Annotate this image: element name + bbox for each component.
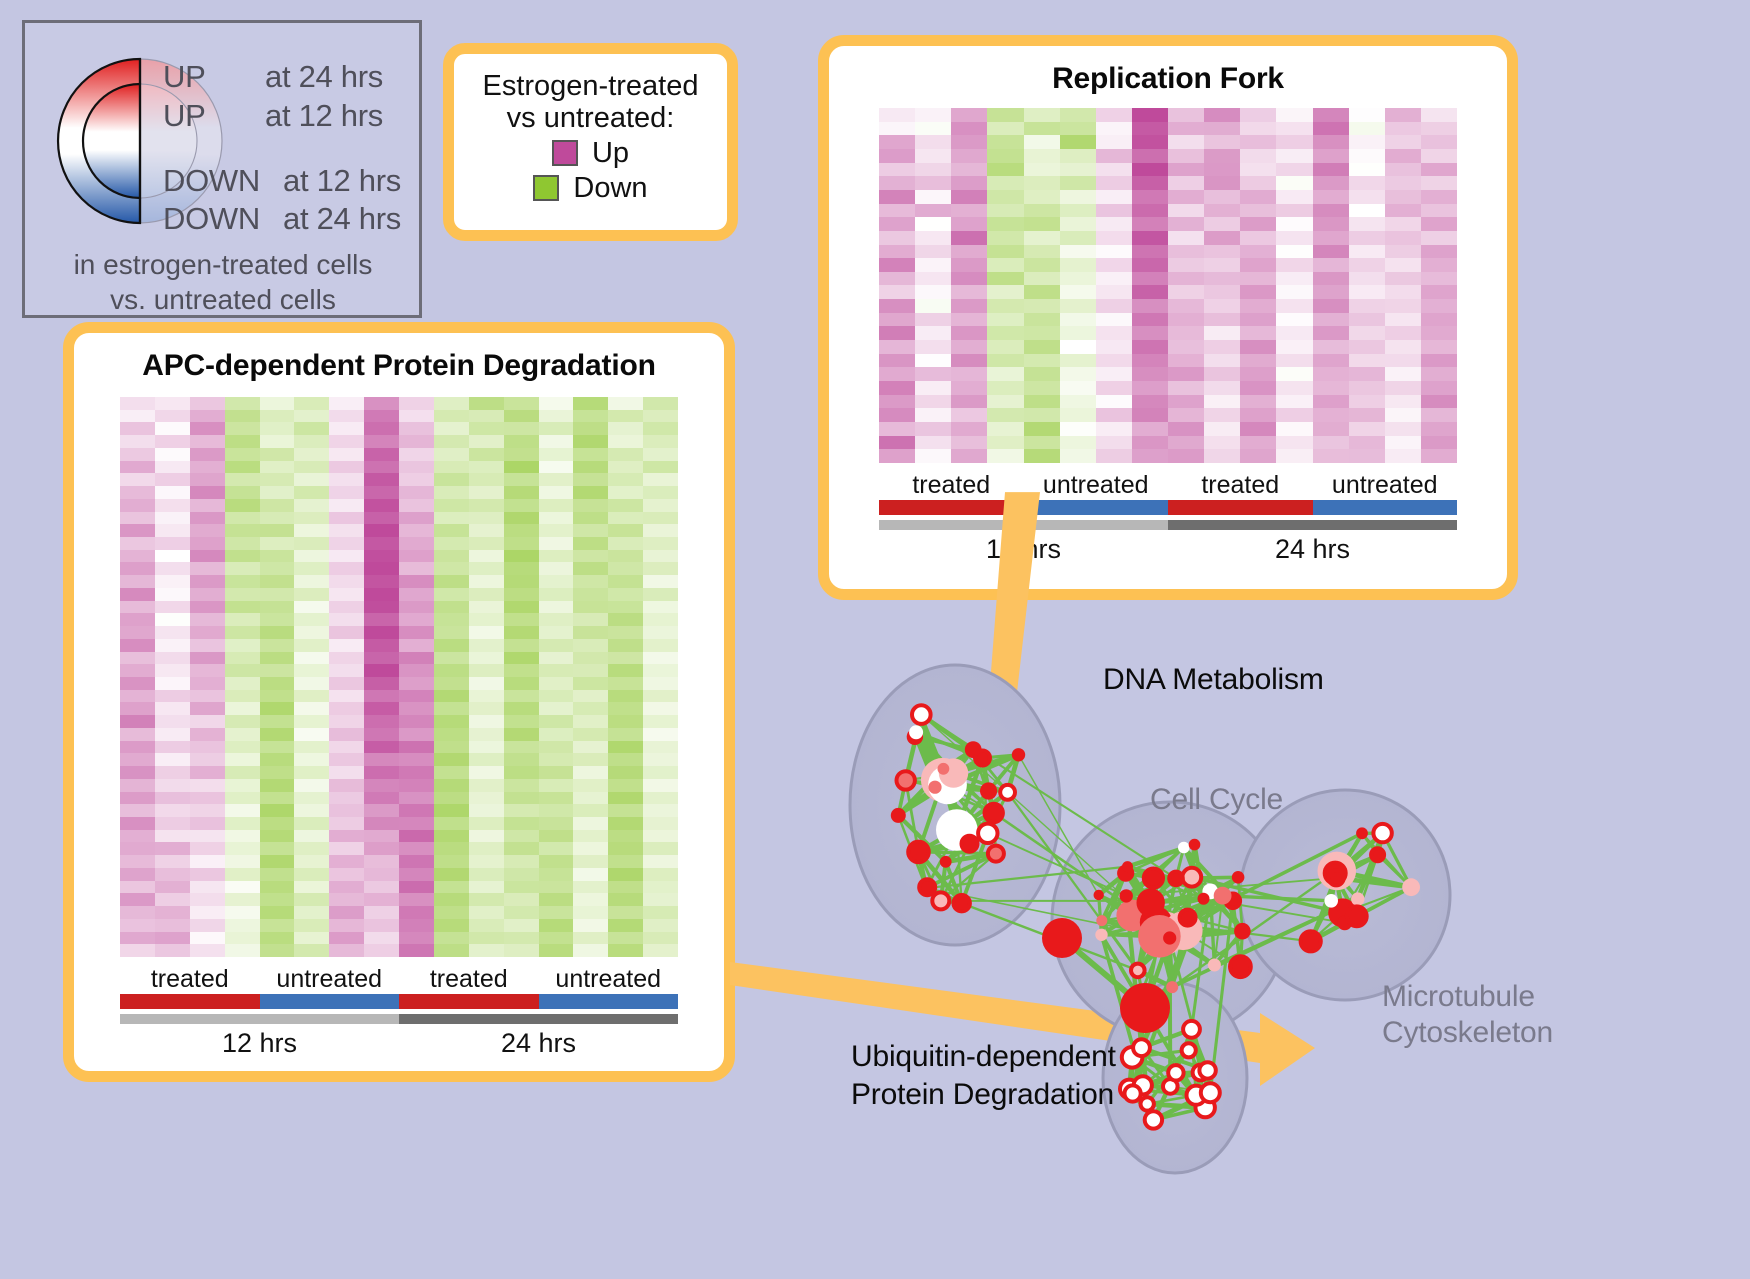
- heatmap-cell: [504, 817, 539, 830]
- heatmap-cell: [1421, 326, 1457, 340]
- legend-label-up: Up: [592, 137, 629, 170]
- heatmap-cell: [329, 753, 364, 766]
- heatmap-cell: [364, 881, 399, 894]
- heatmap-cell: [294, 702, 329, 715]
- heatmap-cell: [1132, 367, 1168, 381]
- heatmap-cell: [434, 410, 469, 423]
- heatmap-cell: [1096, 395, 1132, 409]
- heatmap-cell: [434, 473, 469, 486]
- heatmap-cell: [294, 550, 329, 563]
- heatmap-cell: [190, 868, 225, 881]
- heatmap-cell: [155, 855, 190, 868]
- heatmap-cell: [1349, 122, 1385, 136]
- heatmap-cell: [987, 149, 1023, 163]
- heatmap-cell: [573, 397, 608, 410]
- heatmap-cell: [608, 652, 643, 665]
- heatmap-cell: [879, 135, 915, 149]
- network-node: [1232, 871, 1245, 884]
- heatmap-cell: [399, 779, 434, 792]
- heatmap-cell: [469, 562, 504, 575]
- heatmap-cell: [1168, 285, 1204, 299]
- heatmap-cell: [190, 702, 225, 715]
- network-node: [1329, 870, 1344, 885]
- heatmap-cell: [469, 422, 504, 435]
- heatmap-cell: [225, 448, 260, 461]
- heatmap-cell: [364, 792, 399, 805]
- heatmap-cell: [573, 613, 608, 626]
- heatmap-cell: [260, 588, 295, 601]
- network-node: [1120, 889, 1133, 902]
- heatmap-cell: [225, 728, 260, 741]
- heatmap-cell: [399, 512, 434, 525]
- heatmap-cell: [1240, 408, 1276, 422]
- heatmap-cell: [1060, 135, 1096, 149]
- heatmap-cell: [364, 486, 399, 499]
- heatmap-cell: [469, 881, 504, 894]
- heatmap-cell: [120, 473, 155, 486]
- heatmap-cell: [539, 855, 574, 868]
- heatmap-cell: [399, 550, 434, 563]
- network-node: [1144, 869, 1163, 888]
- heatmap-cell: [225, 944, 260, 957]
- heatmap-cell: [294, 881, 329, 894]
- network-node: [1122, 861, 1133, 872]
- heatmap-cell: [469, 601, 504, 614]
- heatmap-cell: [504, 881, 539, 894]
- network-node: [919, 879, 935, 895]
- heatmap-cell: [879, 122, 915, 136]
- heatmap-cell: [364, 473, 399, 486]
- heatmap-cell: [1024, 122, 1060, 136]
- apc-degradation-panel: APC-dependent Protein Degradation treate…: [63, 322, 735, 1082]
- heatmap-cell: [608, 613, 643, 626]
- heatmap-cell: [399, 562, 434, 575]
- heatmap-cell: [915, 190, 951, 204]
- heatmap-cell: [608, 741, 643, 754]
- network-node: [1012, 748, 1025, 761]
- heatmap-cell: [1421, 436, 1457, 450]
- heatmap-cell: [225, 932, 260, 945]
- heatmap-cell: [1060, 231, 1096, 245]
- heatmap-cell: [504, 741, 539, 754]
- heatmap-cell: [1096, 135, 1132, 149]
- heatmap-cell: [1313, 367, 1349, 381]
- heatmap-cell: [434, 613, 469, 626]
- heatmap-cell: [329, 639, 364, 652]
- heatmap-cell: [1204, 245, 1240, 259]
- heatmap-cell: [1240, 285, 1276, 299]
- heatmap-cell: [260, 537, 295, 550]
- heatmap-cell: [1024, 449, 1060, 463]
- heatmap-cell: [434, 562, 469, 575]
- heatmap-cell: [1385, 422, 1421, 436]
- heatmap-cell: [225, 410, 260, 423]
- heatmap-cell: [504, 499, 539, 512]
- heatmap-cell: [1060, 367, 1096, 381]
- heatmap-cell: [504, 588, 539, 601]
- color-key-time-down-12: at 12 hrs: [283, 163, 401, 199]
- heatmap-cell: [294, 779, 329, 792]
- heatmap-cell: [1096, 285, 1132, 299]
- heatmap-cell: [190, 524, 225, 537]
- heatmap-cell: [1385, 217, 1421, 231]
- heatmap-cell: [504, 461, 539, 474]
- heatmap-cell: [1132, 326, 1168, 340]
- heatmap-cell: [120, 639, 155, 652]
- heatmap-cell: [1024, 245, 1060, 259]
- heatmap-cell: [399, 741, 434, 754]
- heatmap-cell: [434, 868, 469, 881]
- heatmap-cell: [539, 664, 574, 677]
- heatmap-cell: [1349, 163, 1385, 177]
- heatmap-cell: [879, 190, 915, 204]
- heatmap-cell: [1349, 422, 1385, 436]
- heatmap-cell: [155, 601, 190, 614]
- heatmap-cell: [260, 932, 295, 945]
- heatmap-cell: [294, 410, 329, 423]
- network-node: [1166, 981, 1178, 993]
- heatmap-cell: [915, 340, 951, 354]
- heatmap-cell: [539, 804, 574, 817]
- heatmap-cell: [1204, 163, 1240, 177]
- condition-label: treated: [1168, 471, 1313, 500]
- heatmap-cell: [1060, 190, 1096, 204]
- heatmap-cell: [608, 537, 643, 550]
- heatmap-cell: [469, 639, 504, 652]
- heatmap-cell: [1240, 149, 1276, 163]
- heatmap-cell: [120, 944, 155, 957]
- heatmap-cell: [1168, 190, 1204, 204]
- heatmap-cell: [1276, 313, 1312, 327]
- color-key-time-up-24: at 24 hrs: [265, 59, 383, 95]
- heatmap-cell: [434, 664, 469, 677]
- heatmap-cell: [225, 868, 260, 881]
- heatmap-cell: [1060, 204, 1096, 218]
- heatmap-cell: [434, 804, 469, 817]
- heatmap-cell: [294, 842, 329, 855]
- heatmap-cell: [469, 906, 504, 919]
- heatmap-cell: [608, 728, 643, 741]
- heatmap-cell: [573, 881, 608, 894]
- heatmap-cell: [329, 919, 364, 932]
- heatmap-cell: [120, 486, 155, 499]
- network-label-cell-cycle: Cell Cycle: [1150, 783, 1283, 817]
- heatmap-cell: [573, 842, 608, 855]
- heatmap-cell: [1168, 299, 1204, 313]
- heatmap-cell: [225, 524, 260, 537]
- heatmap-cell: [643, 893, 678, 906]
- heatmap-cell: [155, 575, 190, 588]
- replication-fork-heatmap: [879, 108, 1457, 463]
- heatmap-cell: [1313, 449, 1349, 463]
- heatmap-cell: [1421, 135, 1457, 149]
- condition-color-segment: [120, 994, 260, 1009]
- heatmap-cell: [1204, 122, 1240, 136]
- color-key-caption-line2: vs. untreated cells: [33, 283, 413, 316]
- heatmap-cell: [879, 176, 915, 190]
- heatmap-cell: [469, 652, 504, 665]
- heatmap-cell: [573, 715, 608, 728]
- heatmap-cell: [120, 410, 155, 423]
- heatmap-cell: [434, 435, 469, 448]
- heatmap-cell: [1385, 381, 1421, 395]
- heatmap-cell: [190, 932, 225, 945]
- heatmap-cell: [539, 512, 574, 525]
- heatmap-cell: [469, 486, 504, 499]
- heatmap-cell: [294, 932, 329, 945]
- heatmap-cell: [643, 944, 678, 957]
- heatmap-cell: [329, 486, 364, 499]
- heatmap-cell: [539, 677, 574, 690]
- heatmap-cell: [1240, 422, 1276, 436]
- heatmap-cell: [1024, 313, 1060, 327]
- heatmap-cell: [1240, 381, 1276, 395]
- heatmap-cell: [155, 512, 190, 525]
- heatmap-cell: [1132, 285, 1168, 299]
- heatmap-cell: [364, 753, 399, 766]
- heatmap-cell: [1313, 354, 1349, 368]
- heatmap-cell: [1096, 436, 1132, 450]
- heatmap-cell: [469, 524, 504, 537]
- heatmap-cell: [120, 893, 155, 906]
- network-node: [975, 751, 990, 766]
- heatmap-cell: [1421, 285, 1457, 299]
- heatmap-cell: [260, 448, 295, 461]
- heatmap-cell: [1168, 135, 1204, 149]
- heatmap-cell: [608, 715, 643, 728]
- heatmap-cell: [260, 461, 295, 474]
- heatmap-cell: [1276, 176, 1312, 190]
- heatmap-cell: [190, 944, 225, 957]
- network-node: [1402, 878, 1420, 896]
- heatmap-cell: [329, 944, 364, 957]
- heatmap-cell: [1349, 395, 1385, 409]
- condition-color-segment: [879, 500, 1024, 515]
- heatmap-cell: [469, 817, 504, 830]
- heatmap-cell: [120, 448, 155, 461]
- heatmap-cell: [294, 512, 329, 525]
- heatmap-cell: [364, 652, 399, 665]
- heatmap-cell: [155, 639, 190, 652]
- heatmap-cell: [987, 367, 1023, 381]
- heatmap-cell: [294, 690, 329, 703]
- heatmap-cell: [1060, 422, 1096, 436]
- heatmap-cell: [1276, 326, 1312, 340]
- color-key-label-down-12: DOWN: [163, 163, 260, 199]
- legend-panel: Estrogen-treated vs untreated: Up Down: [443, 43, 738, 241]
- heatmap-cell: [987, 313, 1023, 327]
- condition-label: untreated: [260, 965, 400, 994]
- condition-label: treated: [399, 965, 539, 994]
- heatmap-cell: [155, 664, 190, 677]
- heatmap-cell: [120, 588, 155, 601]
- heatmap-cell: [608, 601, 643, 614]
- heatmap-cell: [1132, 135, 1168, 149]
- heatmap-cell: [1276, 408, 1312, 422]
- heatmap-cell: [1096, 122, 1132, 136]
- heatmap-cell: [1276, 285, 1312, 299]
- heatmap-cell: [1313, 340, 1349, 354]
- heatmap-cell: [504, 410, 539, 423]
- heatmap-cell: [1096, 217, 1132, 231]
- network-node: [985, 804, 1003, 822]
- heatmap-cell: [260, 881, 295, 894]
- heatmap-cell: [643, 677, 678, 690]
- heatmap-cell: [155, 753, 190, 766]
- heatmap-cell: [1385, 285, 1421, 299]
- heatmap-cell: [294, 919, 329, 932]
- heatmap-cell: [951, 149, 987, 163]
- heatmap-cell: [1168, 176, 1204, 190]
- heatmap-cell: [399, 664, 434, 677]
- heatmap-cell: [1421, 367, 1457, 381]
- heatmap-cell: [399, 448, 434, 461]
- heatmap-cell: [225, 639, 260, 652]
- heatmap-cell: [155, 766, 190, 779]
- heatmap-cell: [120, 562, 155, 575]
- heatmap-cell: [329, 473, 364, 486]
- heatmap-cell: [1349, 381, 1385, 395]
- heatmap-cell: [1096, 245, 1132, 259]
- heatmap-cell: [434, 919, 469, 932]
- heatmap-cell: [434, 728, 469, 741]
- heatmap-cell: [434, 779, 469, 792]
- heatmap-cell: [469, 512, 504, 525]
- heatmap-cell: [399, 855, 434, 868]
- heatmap-cell: [1132, 245, 1168, 259]
- heatmap-cell: [225, 919, 260, 932]
- heatmap-cell: [120, 779, 155, 792]
- heatmap-cell: [1349, 354, 1385, 368]
- heatmap-cell: [329, 575, 364, 588]
- heatmap-cell: [1132, 422, 1168, 436]
- heatmap-cell: [643, 562, 678, 575]
- heatmap-cell: [120, 690, 155, 703]
- heatmap-cell: [1276, 340, 1312, 354]
- heatmap-cell: [1096, 326, 1132, 340]
- heatmap-cell: [1132, 204, 1168, 218]
- heatmap-cell: [643, 524, 678, 537]
- heatmap-cell: [155, 397, 190, 410]
- heatmap-cell: [1204, 217, 1240, 231]
- heatmap-cell: [504, 944, 539, 957]
- heatmap-cell: [364, 868, 399, 881]
- heatmap-cell: [879, 272, 915, 286]
- replication-fork-timepoint-bar: [879, 520, 1457, 530]
- heatmap-cell: [329, 741, 364, 754]
- network-node: [1347, 906, 1367, 926]
- heatmap-cell: [155, 690, 190, 703]
- heatmap-cell: [1240, 108, 1276, 122]
- heatmap-cell: [294, 435, 329, 448]
- heatmap-cell: [1276, 258, 1312, 272]
- heatmap-cell: [155, 792, 190, 805]
- heatmap-cell: [1096, 408, 1132, 422]
- heatmap-cell: [469, 537, 504, 550]
- heatmap-cell: [120, 906, 155, 919]
- heatmap-cell: [1060, 395, 1096, 409]
- heatmap-cell: [987, 299, 1023, 313]
- network-node: [1096, 915, 1107, 926]
- heatmap-cell: [434, 715, 469, 728]
- heatmap-cell: [1421, 190, 1457, 204]
- heatmap-cell: [364, 550, 399, 563]
- heatmap-cell: [225, 842, 260, 855]
- heatmap-cell: [260, 690, 295, 703]
- heatmap-cell: [539, 588, 574, 601]
- heatmap-cell: [573, 855, 608, 868]
- heatmap-cell: [1349, 217, 1385, 231]
- heatmap-cell: [1240, 340, 1276, 354]
- heatmap-cell: [1132, 176, 1168, 190]
- heatmap-cell: [364, 537, 399, 550]
- heatmap-cell: [573, 868, 608, 881]
- heatmap-cell: [1385, 122, 1421, 136]
- heatmap-cell: [260, 868, 295, 881]
- heatmap-cell: [951, 381, 987, 395]
- heatmap-cell: [573, 512, 608, 525]
- heatmap-cell: [608, 766, 643, 779]
- heatmap-cell: [399, 804, 434, 817]
- heatmap-cell: [504, 690, 539, 703]
- heatmap-cell: [260, 512, 295, 525]
- heatmap-cell: [469, 741, 504, 754]
- heatmap-cell: [608, 830, 643, 843]
- heatmap-cell: [294, 855, 329, 868]
- heatmap-cell: [573, 741, 608, 754]
- heatmap-cell: [225, 435, 260, 448]
- heatmap-cell: [364, 626, 399, 639]
- heatmap-cell: [1204, 408, 1240, 422]
- network-node: [1137, 889, 1165, 917]
- heatmap-cell: [573, 652, 608, 665]
- heatmap-cell: [469, 779, 504, 792]
- heatmap-cell: [1385, 436, 1421, 450]
- heatmap-cell: [951, 313, 987, 327]
- heatmap-cell: [987, 354, 1023, 368]
- heatmap-cell: [364, 562, 399, 575]
- heatmap-cell: [643, 486, 678, 499]
- heatmap-cell: [120, 919, 155, 932]
- heatmap-cell: [608, 906, 643, 919]
- heatmap-cell: [1204, 422, 1240, 436]
- heatmap-cell: [879, 285, 915, 299]
- heatmap-cell: [225, 601, 260, 614]
- heatmap-cell: [608, 664, 643, 677]
- condition-label: treated: [879, 471, 1024, 500]
- timepoint-color-segment: [399, 1014, 678, 1024]
- heatmap-cell: [329, 601, 364, 614]
- heatmap-cell: [120, 830, 155, 843]
- heatmap-cell: [364, 842, 399, 855]
- heatmap-cell: [1240, 245, 1276, 259]
- heatmap-cell: [329, 664, 364, 677]
- heatmap-cell: [399, 601, 434, 614]
- heatmap-cell: [434, 817, 469, 830]
- heatmap-cell: [1349, 285, 1385, 299]
- heatmap-cell: [539, 486, 574, 499]
- heatmap-cell: [329, 906, 364, 919]
- heatmap-cell: [539, 779, 574, 792]
- heatmap-cell: [1060, 354, 1096, 368]
- network-edge: [1170, 938, 1171, 1086]
- heatmap-cell: [539, 601, 574, 614]
- heatmap-cell: [1385, 245, 1421, 259]
- heatmap-cell: [120, 435, 155, 448]
- network-node: [1182, 868, 1201, 887]
- heatmap-cell: [1313, 204, 1349, 218]
- heatmap-cell: [1204, 176, 1240, 190]
